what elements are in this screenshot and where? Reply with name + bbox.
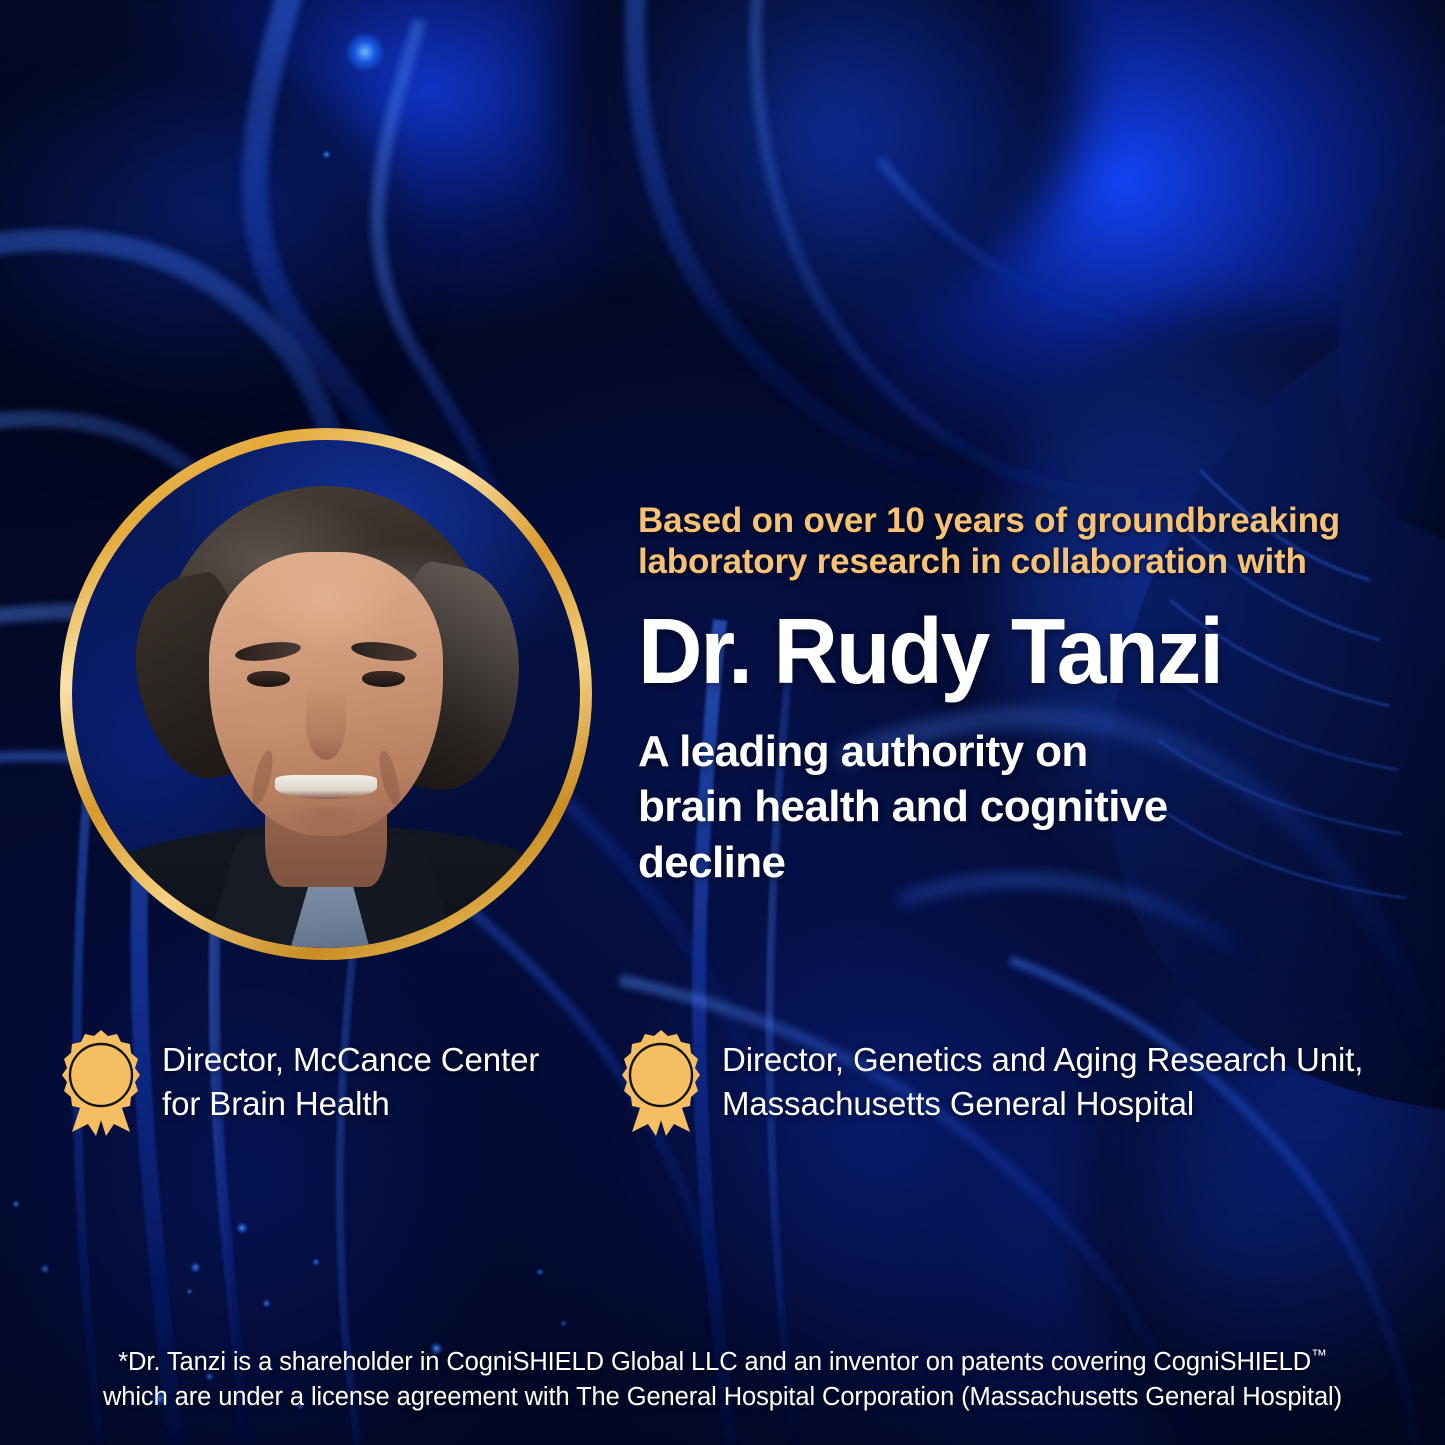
avatar [60, 428, 592, 960]
eyebrow-line-2: laboratory research in collaboration wit… [638, 541, 1428, 582]
role-line-1: A leading authority on [638, 724, 1428, 780]
award-rosette-icon [618, 1028, 704, 1136]
page-title: Dr. Rudy Tanzi [638, 605, 1396, 698]
hero-text-column: Based on over 10 years of groundbreaking… [638, 500, 1428, 891]
credential-item: Director, Genetics and Aging Research Un… [618, 1032, 1418, 1136]
award-rosette-icon [58, 1028, 144, 1136]
disclaimer-line-2: which are under a license agreement with… [0, 1380, 1445, 1415]
gold-ring-frame [60, 428, 592, 960]
credential-item: Director, McCance Center for Brain Healt… [58, 1032, 570, 1136]
credential-text: Director, McCance Center for Brain Healt… [162, 1032, 539, 1126]
credential-text: Director, Genetics and Aging Research Un… [722, 1032, 1363, 1126]
disclaimer-line-1-text: *Dr. Tanzi is a shareholder in CogniSHIE… [118, 1348, 1311, 1376]
role-line-2: brain health and cognitive [638, 779, 1428, 835]
credential-line-2: Massachusetts General Hospital [722, 1082, 1363, 1126]
credential-line-2: for Brain Health [162, 1082, 539, 1126]
legal-disclaimer: *Dr. Tanzi is a shareholder in CogniSHIE… [0, 1345, 1445, 1415]
eyebrow-headline: Based on over 10 years of groundbreaking… [638, 500, 1428, 583]
promo-poster: Based on over 10 years of groundbreaking… [0, 0, 1445, 1445]
eyebrow-line-1: Based on over 10 years of groundbreaking [638, 500, 1428, 541]
credential-line-1: Director, Genetics and Aging Research Un… [722, 1038, 1363, 1082]
credential-line-1: Director, McCance Center [162, 1038, 539, 1082]
portrait-photo [72, 440, 580, 948]
trademark-symbol: ™ [1311, 1348, 1327, 1365]
role-line-3: decline [638, 835, 1428, 891]
role-description: A leading authority on brain health and … [638, 724, 1428, 892]
disclaimer-line-1: *Dr. Tanzi is a shareholder in CogniSHIE… [0, 1345, 1445, 1380]
credentials-list: Director, McCance Center for Brain Healt… [58, 1032, 1438, 1136]
